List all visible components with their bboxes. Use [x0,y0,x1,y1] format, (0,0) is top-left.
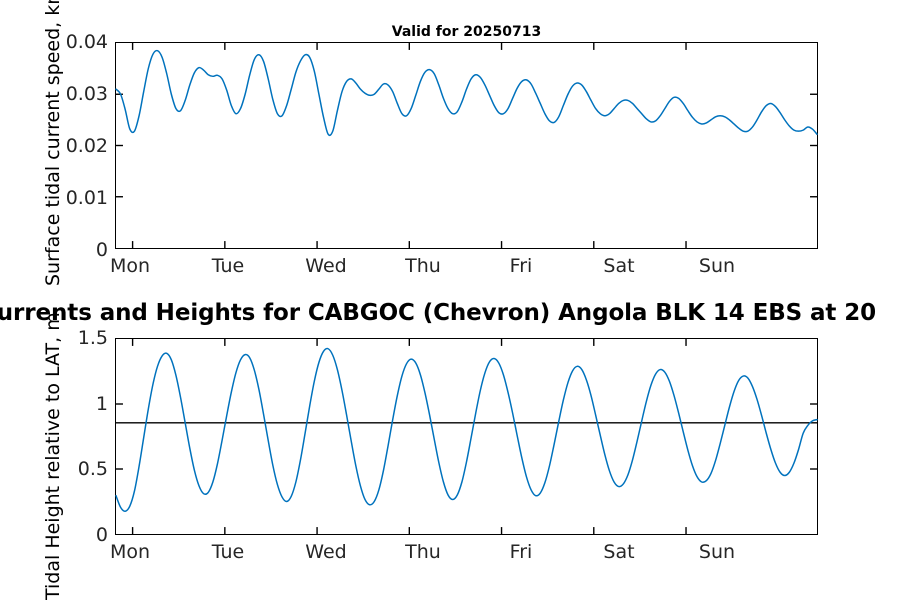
bottom-xtick-label-tue: Tue [188,543,268,562]
top-chart-title: Valid for 20250713 [115,24,818,40]
top-ytick-label-2: 0.02 [30,137,108,156]
top-xtick-label-mon: Mon [90,257,170,276]
bottom-xtick-label-sun: Sun [677,543,757,562]
top-chart-plot-area [115,42,818,249]
top-ytick-label-3: 0.01 [30,189,108,208]
bottom-xtick-label-mon: Mon [90,543,170,562]
top-xtick-label-wed: Wed [286,257,366,276]
bottom-xtick-label-wed: Wed [286,543,366,562]
top-xtick-label-sat: Sat [579,257,659,276]
data-series-0 [116,51,817,136]
bottom-xtick-label-fri: Fri [481,543,561,562]
bottom-ytick-label-1: 1 [30,395,108,414]
bottom-xtick-label-sat: Sat [579,543,659,562]
top-ytick-label-1: 0.03 [30,85,108,104]
bottom-chart-svg [116,339,817,534]
top-ytick-label-0: 0.04 [30,33,108,52]
bottom-chart-plot-area [115,338,818,535]
top-chart-svg [116,43,817,248]
figure-canvas: Valid for 20250713 Surface tidal current… [0,0,900,600]
bottom-chart-y-axis-title: Tidal Height relative to LAT, m [42,312,64,600]
data-series-0 [116,349,817,512]
bottom-xtick-label-thu: Thu [383,543,463,562]
top-xtick-label-tue: Tue [188,257,268,276]
top-xtick-label-thu: Thu [383,257,463,276]
top-xtick-label-sun: Sun [677,257,757,276]
bottom-ytick-label-2: 0.5 [30,460,108,479]
figure-main-title: Currents and Heights for CABGOC (Chevron… [0,300,900,326]
bottom-ytick-label-0: 1.5 [30,329,108,348]
top-xtick-label-fri: Fri [481,257,561,276]
